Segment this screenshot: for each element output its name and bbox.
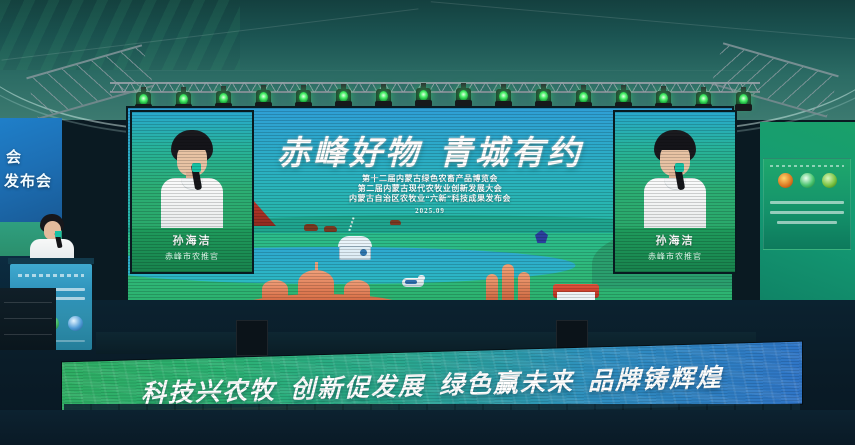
presenter-name-right: 孙海洁 xyxy=(615,232,735,248)
portrait-panel-right: 孙海洁 赤峰市农推官 xyxy=(615,112,735,272)
presenter-role-right: 赤峰市农推官 xyxy=(615,251,735,262)
light-yoke xyxy=(455,100,472,107)
portrait-panel-left: 孙海洁 赤峰市农推官 xyxy=(132,112,252,272)
presenter-figure xyxy=(149,130,235,236)
museum-dome-main xyxy=(298,270,334,296)
sponsor-logo-icon xyxy=(822,173,837,188)
left-wall-text-line1: 会 xyxy=(6,146,22,167)
pagoda-tower xyxy=(502,264,514,304)
cattle-icon xyxy=(390,220,401,225)
light-yoke xyxy=(375,101,392,108)
mongolian-yurt-icon xyxy=(338,236,372,260)
microphone-flag-icon xyxy=(55,231,61,237)
horse-rider-icon xyxy=(402,278,424,290)
microphone-flag-icon xyxy=(192,163,201,172)
horse-head xyxy=(418,275,425,281)
right-wall-caption-top xyxy=(770,165,844,167)
light-lens xyxy=(179,94,188,105)
ceiling-seam xyxy=(120,70,760,71)
microphone-flag-icon xyxy=(675,163,684,172)
stack-seam xyxy=(4,318,52,319)
yurt-emblem xyxy=(360,249,367,256)
right-wall-led-card xyxy=(763,158,851,250)
presenter-fringe xyxy=(655,136,695,150)
presenter-fringe xyxy=(172,136,212,150)
sponsor-logo-icon xyxy=(778,173,793,188)
red-roof-building-icon xyxy=(553,284,599,298)
light-yoke xyxy=(415,100,432,107)
headline-left-text: 赤峰好物 xyxy=(277,136,421,172)
sponsor-logo-icon xyxy=(800,173,815,188)
podium-header-text xyxy=(18,274,84,277)
presenter-role-left: 赤峰市农推官 xyxy=(132,251,252,262)
left-equipment-stack xyxy=(0,288,56,350)
sponsor-logo-icon xyxy=(68,316,83,331)
right-wall-caption-line xyxy=(770,201,844,204)
presenter-name-left: 孙海洁 xyxy=(132,232,252,248)
right-wall-caption-line xyxy=(770,211,844,214)
cattle-icon xyxy=(304,224,318,231)
light-yoke xyxy=(495,101,512,108)
moving-head-light-icon xyxy=(735,92,752,118)
stack-seam xyxy=(4,334,52,335)
rider-figure xyxy=(405,280,417,284)
presenter-figure xyxy=(632,130,718,236)
right-wall-logo-group xyxy=(764,173,850,188)
stack-seam xyxy=(4,302,52,303)
headline-right-text: 青城有约 xyxy=(439,136,583,172)
light-lens xyxy=(699,94,708,105)
right-wall-caption-line xyxy=(777,221,837,224)
light-yoke xyxy=(735,104,752,111)
stage-monitor-speaker xyxy=(236,320,268,356)
left-wall-text-line2: 发布会 xyxy=(4,170,52,191)
foreground-floor xyxy=(0,410,855,445)
stage-scene: 会 发布会 xyxy=(0,0,855,445)
cattle-icon xyxy=(324,226,337,232)
